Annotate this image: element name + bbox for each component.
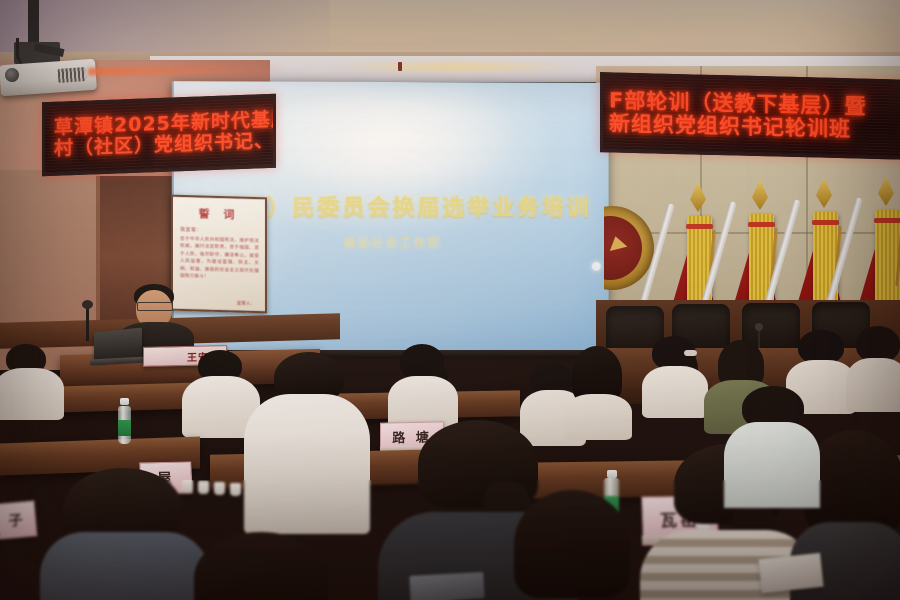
bottle-label xyxy=(118,420,131,436)
housing-light-glow xyxy=(330,60,580,72)
placard-partial-text: 子 xyxy=(8,509,27,530)
flag-band xyxy=(748,222,775,227)
bottle-cap xyxy=(120,398,129,405)
water-bottle xyxy=(118,398,131,444)
foreground-attendee-dark-right xyxy=(500,490,650,600)
podium-microphone-head xyxy=(82,300,93,309)
flag-band xyxy=(686,224,713,229)
screen-hotspot xyxy=(262,92,523,201)
foreground-attendee-white-shirt xyxy=(244,352,370,522)
handout-paper xyxy=(758,553,823,593)
attendee-hair xyxy=(514,490,630,598)
attendee-shirt xyxy=(244,394,370,534)
projector-vent xyxy=(58,67,87,83)
flag-spear-finial xyxy=(878,176,894,206)
attendee-shirt xyxy=(642,366,708,418)
paper-cup xyxy=(230,483,241,496)
attendee-shirt xyxy=(846,358,900,412)
attendee-row3-bun xyxy=(640,336,708,412)
flag-tassel xyxy=(875,210,900,310)
right-led-panel: F部轮训（送教下基层）暨 新组织党组织书记轮训班 xyxy=(603,75,900,156)
paper-cup xyxy=(214,482,225,495)
placard-partial: 子 xyxy=(0,500,37,539)
attendee-far-left xyxy=(0,344,70,414)
attendee-row3-edge xyxy=(850,326,900,406)
attendee-shirt xyxy=(0,368,64,420)
flag-spear-finial xyxy=(752,180,768,210)
attendee-shirt xyxy=(724,422,820,508)
attendee-row3-ponytail xyxy=(390,344,460,424)
conference-hall-photo: 村（居）民委员会换届选举业务培训 县委社会工作部 草潭镇2025年新时代基层 村… xyxy=(0,0,900,600)
bottle-cap xyxy=(607,470,617,478)
right-led-banner: F部轮训（送教下基层）暨 新组织党组织书记轮训班 xyxy=(600,72,900,160)
hair-tie xyxy=(684,350,697,356)
attendee-hair xyxy=(194,532,328,600)
left-led-panel: 草潭镇2025年新时代基层 村（社区）党组织书记、i xyxy=(45,97,273,173)
presenter-glasses xyxy=(137,302,173,311)
attendee-row3-long-hair xyxy=(560,346,634,430)
left-led-banner: 草潭镇2025年新时代基层 村（社区）党组织书记、i xyxy=(42,94,276,177)
flag-spear-finial xyxy=(816,178,832,208)
screen-reflection-dot xyxy=(592,262,601,271)
attendee-hair xyxy=(798,330,844,364)
flag-band xyxy=(874,218,900,223)
foreground-attendee-dark xyxy=(176,532,346,600)
attendee-mid-right-shirt xyxy=(724,386,820,496)
podium-microphone-stem xyxy=(86,305,89,341)
housing-slot xyxy=(398,62,402,71)
tablet-device xyxy=(409,572,484,600)
attendee-hair xyxy=(856,326,900,362)
projector-cable xyxy=(16,38,35,66)
flag-band xyxy=(812,220,839,225)
flag-spear-finial xyxy=(690,182,706,212)
